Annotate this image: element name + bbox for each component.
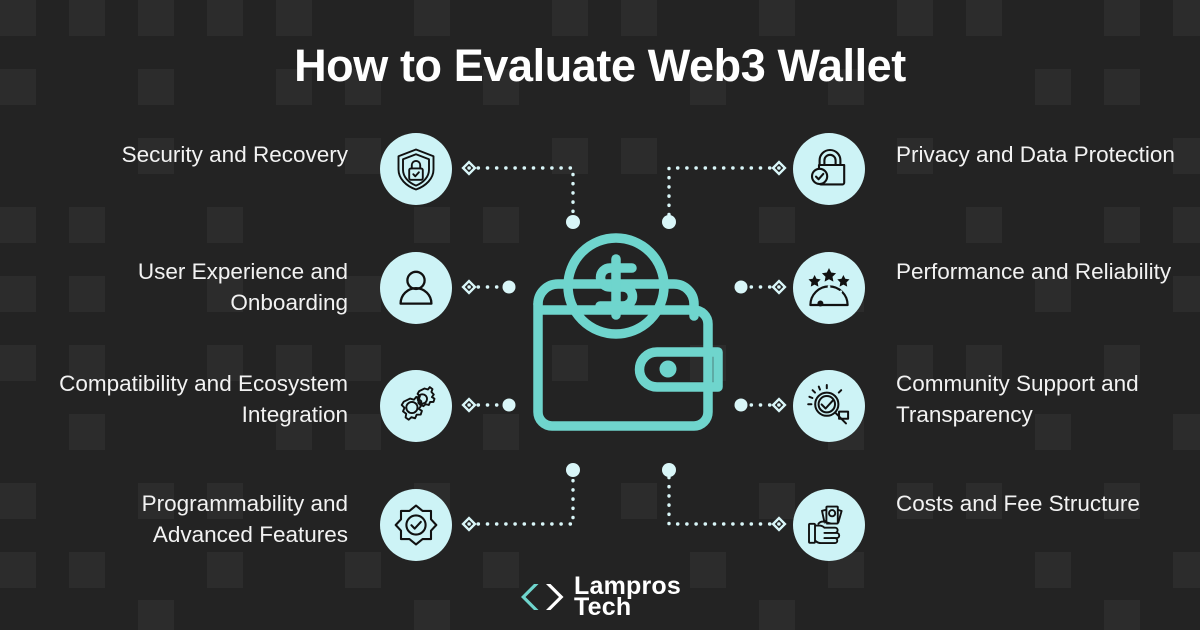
logo-line-2: Tech [574, 597, 681, 618]
wallet-illustration [528, 232, 728, 444]
label-programmability-and-advanced-features: Programmability and Advanced Features [48, 488, 348, 550]
label-security-and-recovery: Security and Recovery [48, 139, 348, 170]
icon-bubble-user-experience-and-onboarding [380, 252, 452, 324]
label-privacy-and-data-protection: Privacy and Data Protection [896, 139, 1196, 170]
badge-check-starburst-icon [393, 502, 439, 548]
user-person-icon [393, 265, 439, 311]
infographic-canvas: How to Evaluate Web3 Wallet Security and… [0, 0, 1200, 630]
icon-bubble-performance-and-reliability [793, 252, 865, 324]
wallet-with-dollar-coin-icon [528, 232, 728, 444]
hand-holding-cash-icon [805, 501, 853, 549]
gears-integration-icon [392, 382, 440, 430]
label-user-experience-and-onboarding: User Experience and Onboarding [48, 256, 348, 318]
label-costs-and-fee-structure: Costs and Fee Structure [896, 488, 1196, 519]
page-title: How to Evaluate Web3 Wallet [0, 40, 1200, 92]
label-compatibility-and-ecosystem-integration: Compatibility and Ecosystem Integration [48, 368, 348, 430]
icon-bubble-privacy-and-data-protection [793, 133, 865, 205]
label-performance-and-reliability: Performance and Reliability [896, 256, 1196, 287]
icon-bubble-programmability-and-advanced-features [380, 489, 452, 561]
label-community-support-and-transparency: Community Support and Transparency [896, 368, 1196, 430]
angle-brackets-icon [519, 582, 565, 612]
icon-bubble-costs-and-fee-structure [793, 489, 865, 561]
padlock-check-icon [806, 146, 852, 192]
lampros-tech-logo: Lampros Tech [0, 576, 1200, 617]
icon-bubble-compatibility-and-ecosystem-integration [380, 370, 452, 442]
magnifier-check-icon [805, 382, 853, 430]
wallet-clasp-dot [660, 361, 677, 378]
icon-bubble-security-and-recovery [380, 133, 452, 205]
icon-bubble-community-support-and-transparency [793, 370, 865, 442]
shield-lock-check-icon [393, 146, 439, 192]
speedometer-stars-icon [805, 264, 853, 312]
